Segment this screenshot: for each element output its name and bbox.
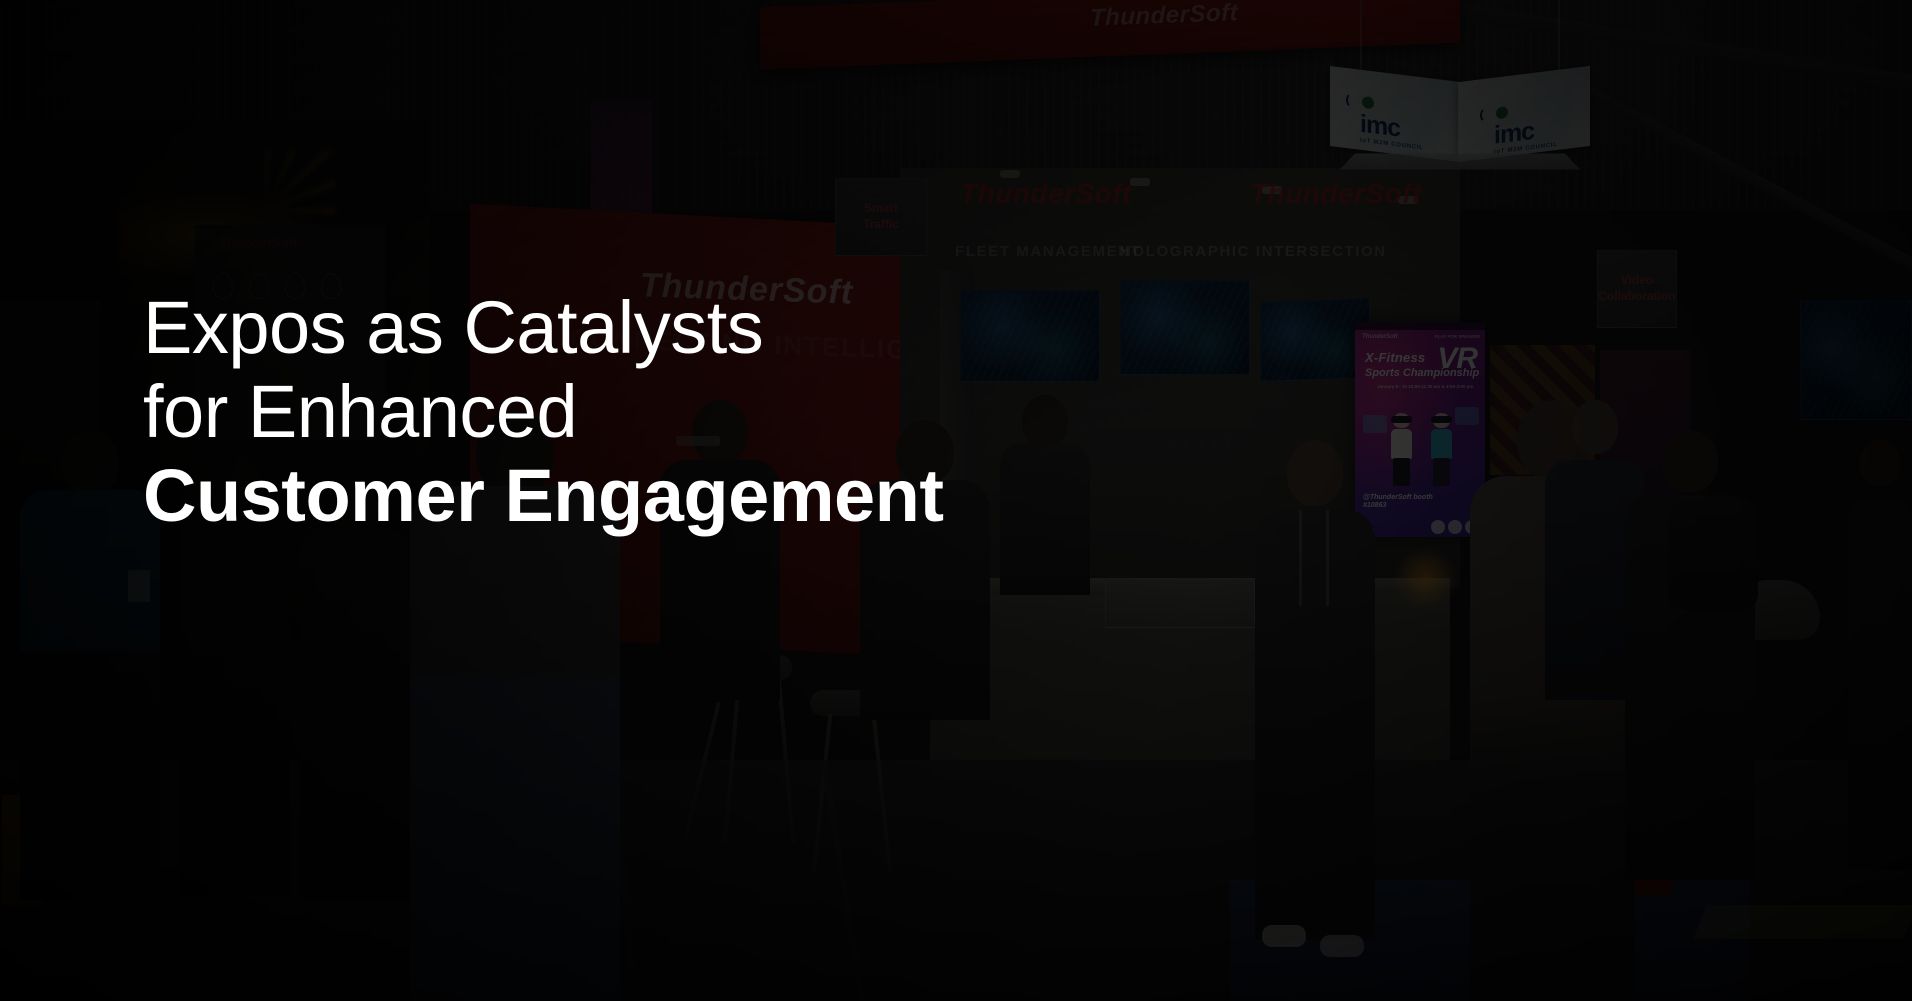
attendee-silhouette (1000, 395, 1090, 595)
hero-banner: ThunderSoft ThunderSoft ThunderSoft CONN… (0, 0, 1912, 1001)
sign-smart-traffic: Smart Traffic (835, 178, 927, 256)
eyeglasses-icon (676, 436, 720, 446)
attendee-body (660, 460, 780, 700)
attendee-head (1022, 395, 1068, 447)
banner-play-note: PLAY FOR SPEAKER (1435, 334, 1480, 339)
signal-wave-icon (1480, 106, 1494, 124)
floor-marking (1693, 905, 1912, 939)
globe-icon (1496, 106, 1508, 119)
banner-ui-card (1363, 415, 1387, 433)
banner-title: X-Fitness (1365, 350, 1425, 365)
signal-wave-icon (1346, 92, 1360, 110)
booth-staff-silhouette (1255, 440, 1375, 940)
banner-top-bar (1355, 322, 1485, 330)
vr-player-figure (1389, 413, 1415, 485)
flower-arrangement (1390, 540, 1460, 610)
backpack (1668, 500, 1758, 610)
lanyard (1299, 510, 1329, 606)
imc-wordmark: imc (1360, 112, 1400, 142)
figure-torso (1391, 429, 1412, 459)
banner-dates: January 9 - 12 10:00-11:30 am & 3:00-4:0… (1377, 384, 1474, 389)
attendee-body (860, 480, 990, 720)
seated-attendee (660, 400, 780, 700)
figure-torso (1431, 429, 1452, 459)
display-monitor (960, 290, 1100, 382)
attendee-head (61, 430, 119, 496)
sign-smart-traffic-line2: Traffic (863, 217, 899, 233)
imc-wordmark: imc (1494, 119, 1534, 149)
attendee-body (180, 505, 290, 895)
imc-sign-face-left: imc IoT M2M COUNCIL (1330, 66, 1460, 162)
display-monitor (1800, 300, 1912, 420)
sign-video-line1: Video (1621, 273, 1653, 289)
counter-product-boxes (1105, 580, 1255, 628)
wall-label-holographic-intersection: HOLOGRAPHIC INTERSECTION (1120, 243, 1387, 260)
flame-icon (213, 273, 233, 299)
thundersoft-logo-counter-right: ThunderSoft (1250, 178, 1422, 210)
attendee-head (1860, 440, 1900, 486)
globe-icon (1362, 96, 1374, 109)
spotlight (1000, 170, 1020, 178)
banner-brand-logo: ThunderSoft (1362, 334, 1398, 340)
imc-sign-underside (1340, 154, 1581, 170)
sneaker (1262, 925, 1306, 947)
attendee-head (896, 420, 954, 484)
sign-hanger-rod (1558, 0, 1560, 74)
wall-label-fleet-management: FLEET MANAGEMENT (955, 243, 1141, 260)
attendee-badge (128, 570, 150, 602)
display-monitor (1120, 280, 1250, 375)
attendee-body (20, 490, 160, 900)
sneaker (1320, 935, 1364, 957)
attendee-head (692, 400, 748, 464)
display-monitor (1260, 298, 1370, 382)
sign-video-line2: Collaboration (1598, 289, 1675, 305)
attendee-body (300, 528, 410, 900)
thundersoft-logo-panel: ThunderSoft (220, 235, 297, 250)
panel-icon-row (213, 273, 341, 299)
banner-subtitle: Sports Championship (1365, 367, 1479, 379)
attendee-silhouette (1848, 440, 1912, 870)
attendee-head (476, 410, 554, 496)
attendee-body (1000, 443, 1090, 595)
vr-headset-icon (1391, 416, 1412, 423)
vr-headset-icon (1431, 416, 1452, 423)
figure-legs (1393, 458, 1410, 486)
flame-icon (285, 273, 305, 299)
background-photo: ThunderSoft ThunderSoft ThunderSoft CONN… (0, 0, 1912, 1001)
thundersoft-logo-counter-left: ThunderSoft (960, 178, 1132, 210)
sign-video-collaboration: Video Collaboration (1597, 250, 1677, 328)
attendee-body (410, 486, 620, 1001)
imc-hanging-sign: imc IoT M2M COUNCIL imc IoT M2M COUNCIL (1330, 60, 1590, 172)
vr-player-figure (1429, 413, 1455, 485)
attendee-head (1662, 430, 1718, 492)
spotlight (1130, 178, 1150, 186)
thundersoft-logo-overhead: ThunderSoft (1090, 0, 1238, 33)
attendee-silhouette (180, 455, 290, 895)
thundersoft-logo-wall: ThunderSoft (640, 266, 853, 312)
attendee-silhouette (300, 480, 410, 900)
attendee-body (1848, 498, 1912, 870)
flame-icon (249, 273, 269, 299)
banner-thumbnail (1431, 520, 1445, 534)
attendee-silhouette-center (410, 410, 620, 1001)
attendee-silhouette (1625, 430, 1755, 880)
attendee-silhouette (20, 430, 160, 900)
banner-thumbnail (1448, 520, 1462, 534)
imc-sign-face-right: imc IoT M2M COUNCIL (1458, 66, 1590, 162)
attendee-silhouette (860, 420, 990, 720)
figure-legs (1433, 458, 1450, 486)
sign-smart-traffic-line1: Smart (864, 201, 898, 217)
sign-hanger-rod (1360, 0, 1362, 74)
flame-icon (321, 273, 341, 299)
chair-base (1750, 640, 1806, 700)
attendee-head (1572, 400, 1618, 454)
attendee-head (1287, 440, 1343, 506)
product-info-panel: ThunderSoft (195, 225, 385, 440)
